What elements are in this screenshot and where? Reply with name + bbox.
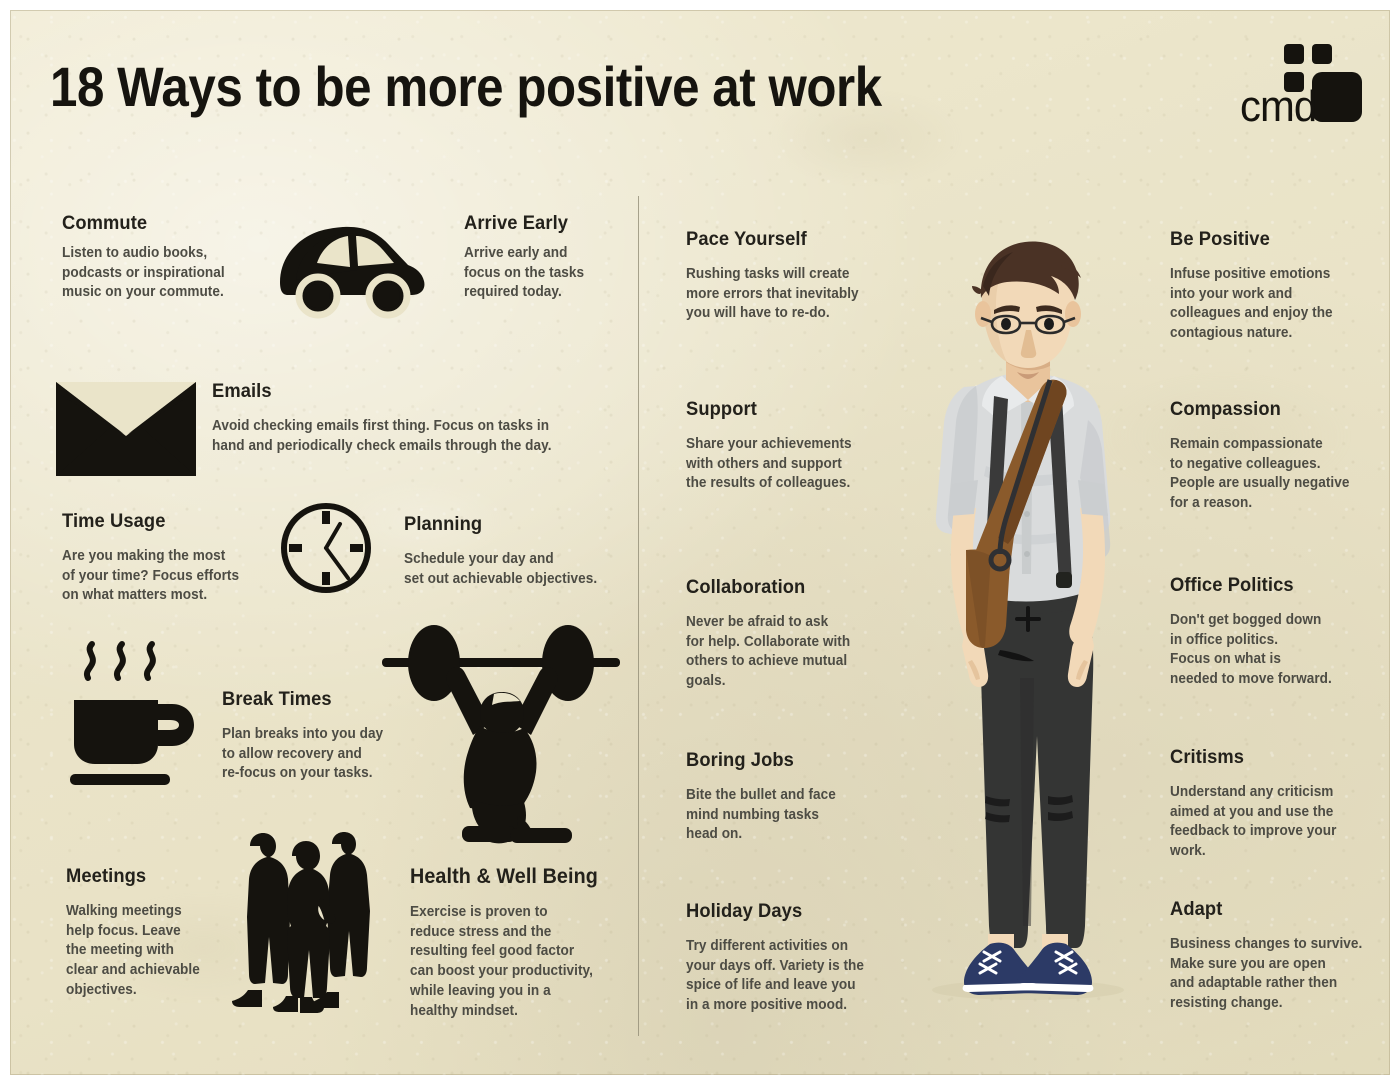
section-body: Schedule your day and set out achievable…: [404, 550, 613, 589]
section-arrive-early: Arrive Early Arrive early and focus on t…: [464, 212, 644, 303]
section-body: Try different activities on your days of…: [686, 937, 890, 1016]
clock-icon: [276, 498, 376, 598]
section-critisms: Critisms Understand any criticism aimed …: [1170, 746, 1370, 862]
section-heading: Boring Jobs: [686, 749, 883, 772]
coffee-cup-icon: [66, 638, 196, 788]
section-emails: Emails Avoid checking emails first thing…: [212, 380, 632, 456]
car-icon: [268, 210, 428, 320]
page-title: 18 Ways to be more positive at work: [50, 54, 882, 119]
section-collaboration: Collaboration Never be afraid to ask for…: [686, 576, 896, 692]
section-heading: Time Usage: [62, 510, 259, 533]
section-body: Listen to audio books, podcasts or inspi…: [62, 244, 252, 303]
section-body: Remain compassionate to negative colleag…: [1170, 435, 1360, 514]
standing-man-illustration: [880, 228, 1170, 1018]
section-heading: Be Positive: [1170, 228, 1358, 251]
section-body: Bite the bullet and face mind numbing ta…: [686, 786, 886, 845]
section-heading: Health & Well Being: [410, 865, 617, 889]
section-heading: Support: [686, 398, 883, 421]
section-meetings: Meetings Walking meetings help focus. Le…: [66, 865, 246, 1001]
section-body: Arrive early and focus on the tasks requ…: [464, 244, 635, 303]
section-pace-yourself: Pace Yourself Rushing tasks will create …: [686, 228, 896, 324]
section-body: Business changes to survive. Make sure y…: [1170, 935, 1370, 1014]
section-body: Don't get bogged down in office politics…: [1170, 611, 1360, 690]
logo-square-small-1: [1284, 44, 1304, 64]
section-body: Never be afraid to ask for help. Collabo…: [686, 613, 886, 692]
section-body: Walking meetings help focus. Leave the m…: [66, 902, 237, 1001]
section-heading: Meetings: [66, 865, 235, 888]
column-divider: [638, 196, 639, 1036]
section-body: Infuse positive emotions into your work …: [1170, 265, 1360, 344]
section-time-usage: Time Usage Are you making the most of yo…: [62, 510, 272, 606]
section-heading: Commute: [62, 212, 250, 235]
section-heading: Planning: [404, 513, 611, 536]
section-planning: Planning Schedule your day and set out a…: [404, 513, 624, 589]
logo-square-large: [1312, 72, 1362, 122]
envelope-icon: [56, 382, 196, 476]
cmd-logo: cmd: [1240, 38, 1360, 138]
section-heading: Adapt: [1170, 898, 1367, 921]
infographic-poster: 18 Ways to be more positive at work cmd …: [10, 10, 1390, 1075]
section-heading: Pace Yourself: [686, 228, 883, 251]
section-body: Understand any criticism aimed at you an…: [1170, 783, 1360, 862]
section-body: Exercise is proven to reduce stress and …: [410, 903, 619, 1021]
section-health-well-being: Health & Well Being Exercise is proven t…: [410, 865, 630, 1021]
logo-square-small-2: [1312, 44, 1332, 64]
section-office-politics: Office Politics Don't get bogged down in…: [1170, 574, 1370, 690]
section-heading: Compassion: [1170, 398, 1358, 421]
weightlifter-icon: [376, 630, 626, 845]
section-boring-jobs: Boring Jobs Bite the bullet and face min…: [686, 749, 896, 845]
section-heading: Collaboration: [686, 576, 883, 599]
section-heading: Arrive Early: [464, 212, 633, 235]
section-holiday-days: Holiday Days Try different activities on…: [686, 900, 901, 1016]
section-body: Are you making the most of your time? Fo…: [62, 547, 262, 606]
section-heading: Critisms: [1170, 746, 1358, 769]
section-heading: Emails: [212, 380, 607, 403]
section-body: Share your achievements with others and …: [686, 435, 886, 494]
section-adapt: Adapt Business changes to survive. Make …: [1170, 898, 1380, 1014]
section-body: Rushing tasks will create more errors th…: [686, 265, 886, 324]
people-group-icon: [228, 832, 378, 1012]
section-support: Support Share your achievements with oth…: [686, 398, 896, 494]
logo-wordmark: cmd: [1240, 82, 1316, 132]
section-compassion: Compassion Remain compassionate to negat…: [1170, 398, 1370, 514]
section-be-positive: Be Positive Infuse positive emotions int…: [1170, 228, 1370, 344]
section-heading: Office Politics: [1170, 574, 1358, 597]
section-commute: Commute Listen to audio books, podcasts …: [62, 212, 262, 303]
section-body: Avoid checking emails first thing. Focus…: [212, 417, 611, 456]
section-heading: Holiday Days: [686, 900, 888, 923]
